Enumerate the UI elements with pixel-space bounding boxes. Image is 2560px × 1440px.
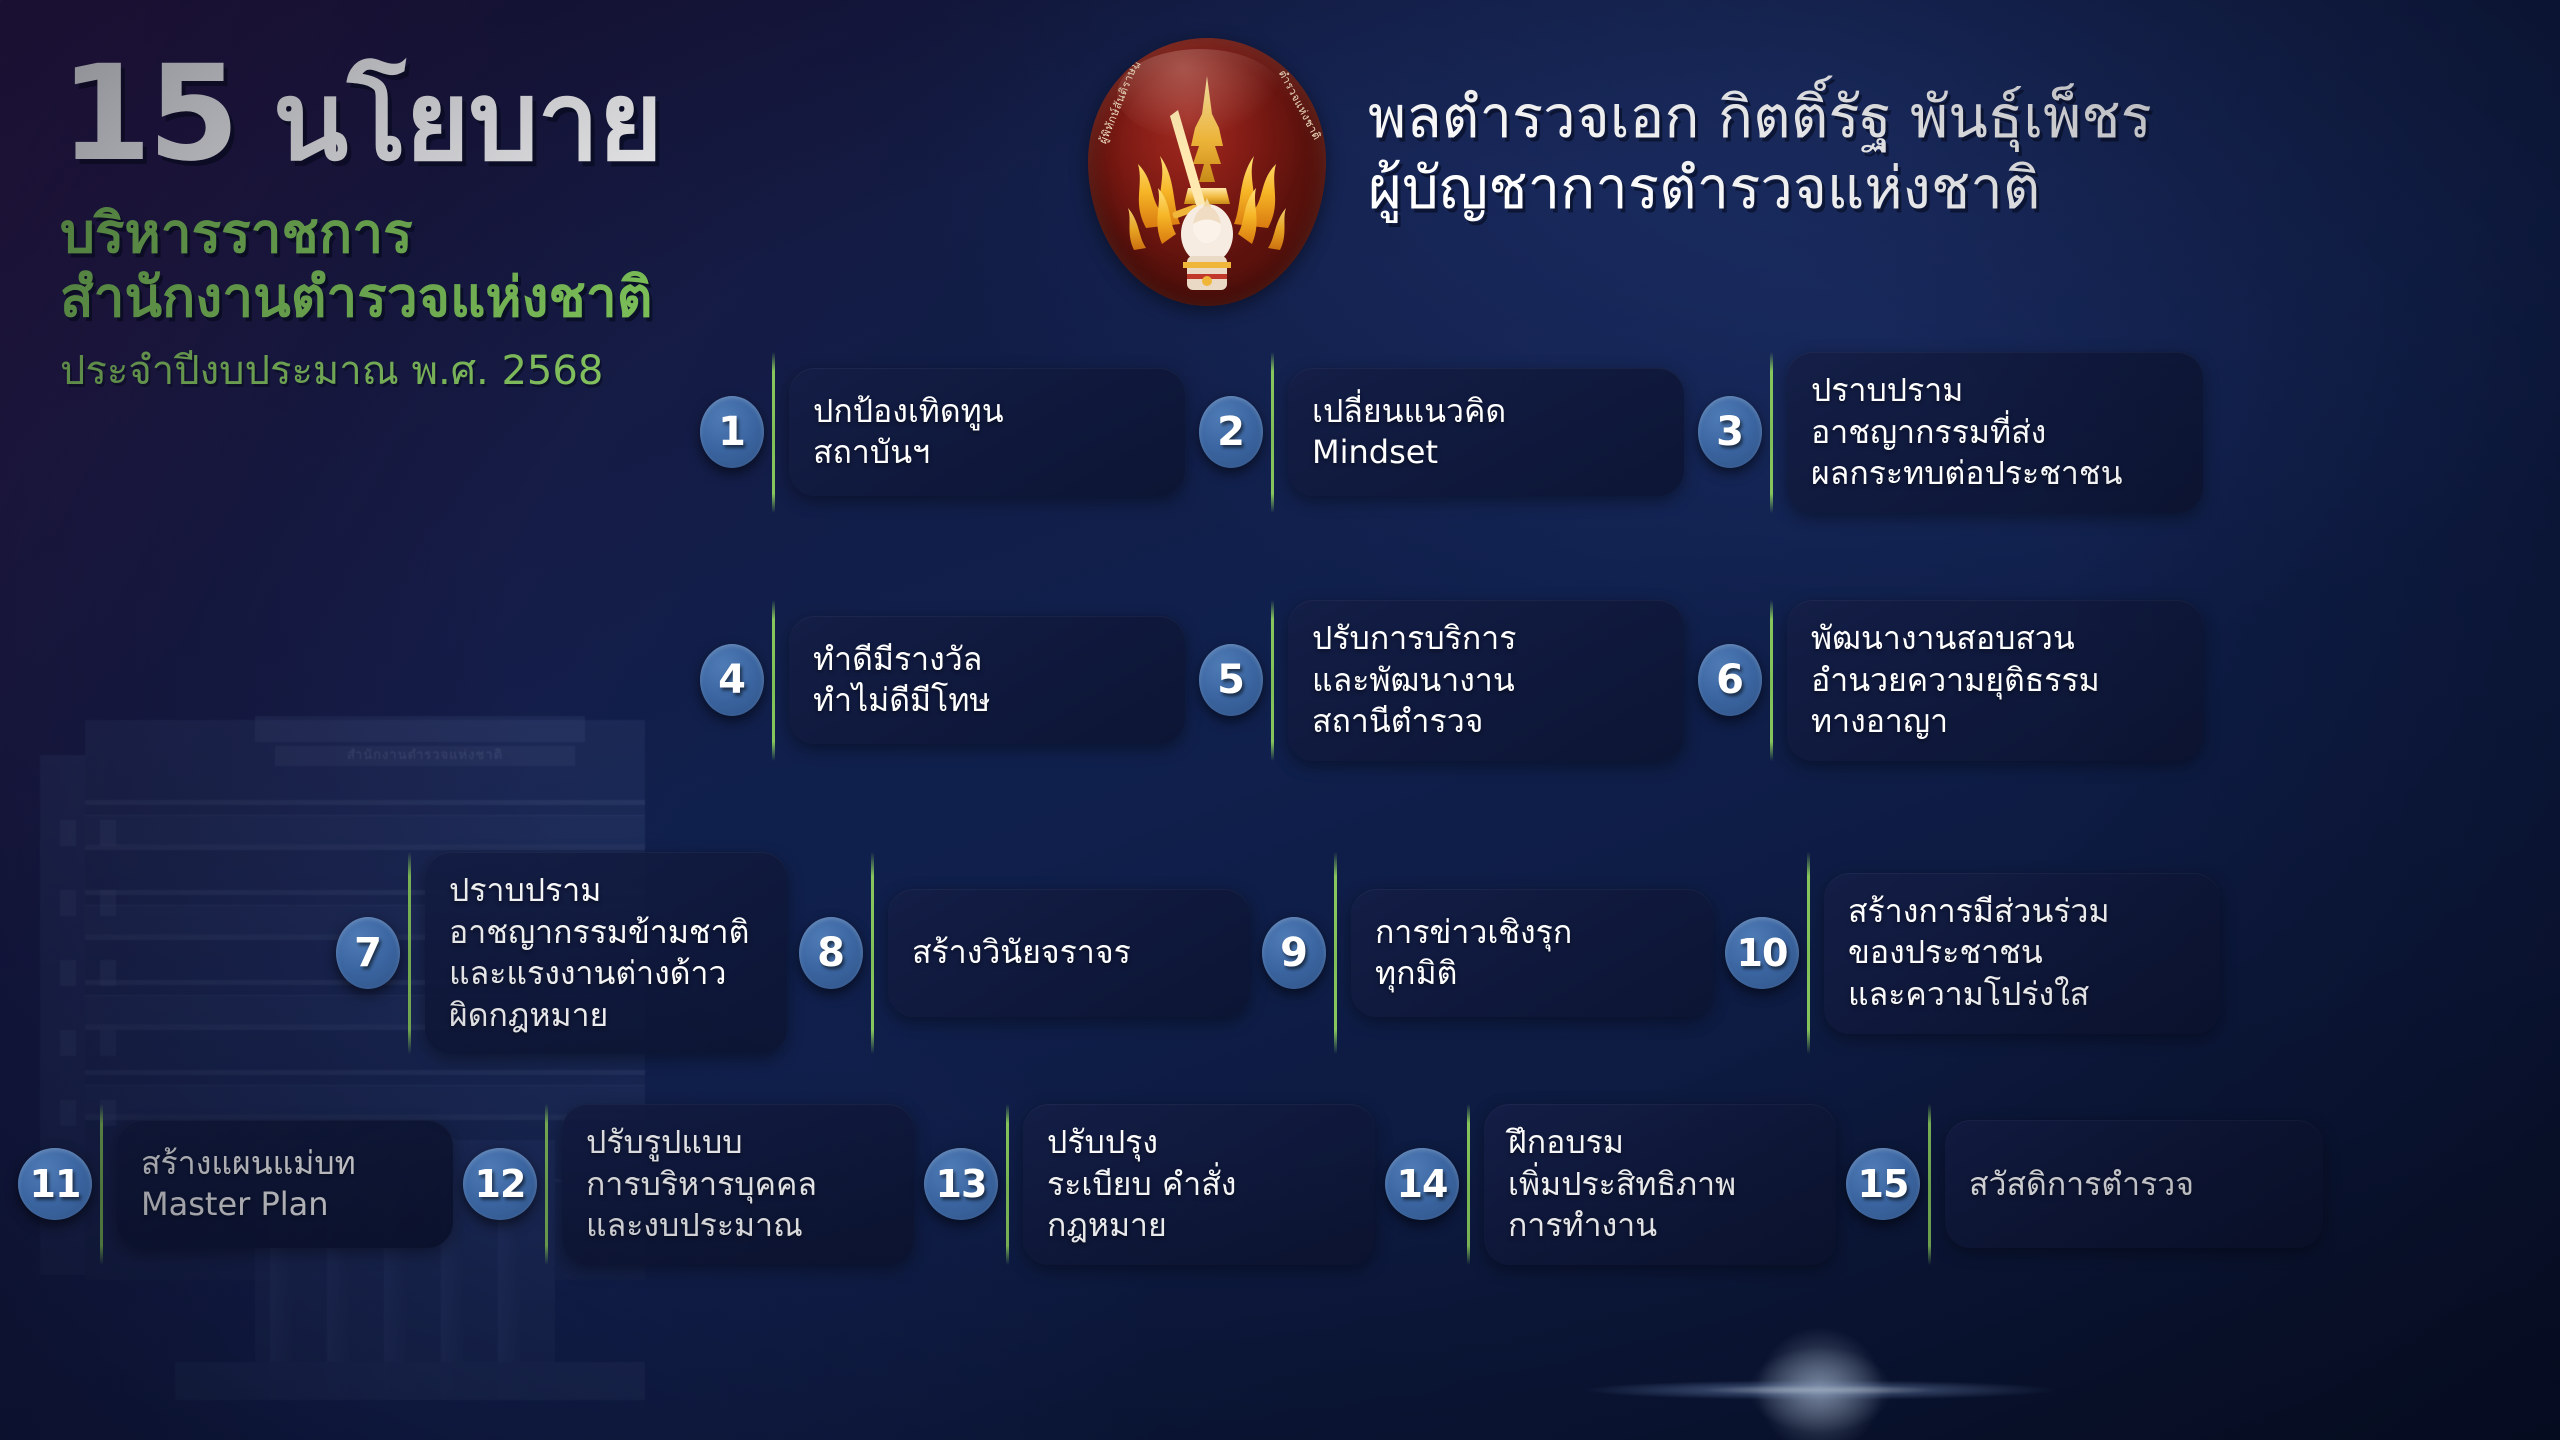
policy-number-badge: 2 [1199,396,1263,468]
policy-card[interactable]: สร้างวินัยจราจร [888,889,1250,1017]
policy-card[interactable]: ปรับรูปแบบ การบริหารบุคคล และงบประมาณ [562,1104,914,1265]
policy-text: ปรับการบริการ และพัฒนางาน สถานีตำรวจ [1312,618,1516,743]
infographic-canvas: 15 นโยบาย บริหารราชการ สำนักงานตำรวจแห่ง… [0,0,2560,1440]
policy-item-13[interactable]: 13 ปรับปรุง ระเบียบ คำสั่ง กฎหมาย [924,1104,1375,1265]
commissioner-name: พลตำรวจเอก กิตติ์รัฐ พันธุ์เพ็ชร [1368,82,2152,153]
policy-number-badge: 14 [1385,1148,1459,1220]
policy-row-1: 1 ปกป้องเทิดทูน สถาบันฯ 2 เปลี่ยนแนวคิด … [700,352,2217,513]
policy-number-badge: 10 [1725,917,1799,989]
policy-divider [772,600,775,761]
policy-divider [545,1104,548,1265]
policy-number-badge: 3 [1698,396,1762,468]
policy-number-badge: 6 [1698,644,1762,716]
policy-row-3: 7 ปราบปราม อาชญากรรมข้ามชาติ และแรงงานต่… [336,852,2232,1054]
policy-text: ปกป้องเทิดทูน สถาบันฯ [813,391,1004,474]
policy-item-10[interactable]: 10 สร้างการมีส่วนร่วม ของประชาชน และความ… [1725,852,2220,1054]
policy-item-14[interactable]: 14 ฝึกอบรม เพิ่มประสิทธิภาพ การทำงาน [1385,1104,1836,1265]
policy-text: การข่าวเชิงรุก ทุกมิติ [1375,912,1572,995]
policy-number-badge: 9 [1262,917,1326,989]
policy-item-3[interactable]: 3 ปราบปราม อาชญากรรมที่ส่ง ผลกระทบต่อประ… [1698,352,2203,513]
policy-divider [871,852,874,1054]
policy-number-badge: 11 [18,1148,92,1220]
policy-item-12[interactable]: 12 ปรับรูปแบบ การบริหารบุคคล และงบประมาณ [463,1104,914,1265]
policy-number-badge: 4 [700,644,764,716]
policy-divider [1807,852,1810,1054]
policy-card[interactable]: สร้างแผนแม่บท Master Plan [117,1120,453,1248]
policy-text: ฝึกอบรม เพิ่มประสิทธิภาพ การทำงาน [1508,1122,1736,1247]
royal-thai-police-emblem: ผู้พิทักษ์สันติราษฎร์ ตำรวจแห่งชาติ [1088,38,1326,306]
policy-card[interactable]: ทำดีมีรางวัล ทำไม่ดีมีโทษ [789,616,1185,744]
policy-item-15[interactable]: 15 สวัสดิการตำรวจ [1846,1104,2323,1265]
policy-card[interactable]: ปราบปราม อาชญากรรมที่ส่ง ผลกระทบต่อประชา… [1787,352,2203,513]
headline-block: 15 นโยบาย บริหารราชการ สำนักงานตำรวจแห่ง… [60,48,700,396]
policy-item-5[interactable]: 5 ปรับการบริการ และพัฒนางาน สถานีตำรวจ [1199,600,1684,761]
policy-divider [1006,1104,1009,1265]
policy-text: สร้างวินัยจราจร [912,932,1131,974]
policy-word: นโยบาย [273,57,662,185]
building-sign [275,746,575,766]
subtitle-line-1: บริหารราชการ [60,202,700,266]
policy-card[interactable]: ฝึกอบรม เพิ่มประสิทธิภาพ การทำงาน [1484,1104,1836,1265]
policy-text: ทำดีมีรางวัล ทำไม่ดีมีโทษ [813,639,991,722]
policy-item-4[interactable]: 4 ทำดีมีรางวัล ทำไม่ดีมีโทษ [700,600,1185,761]
policy-item-11[interactable]: 11 สร้างแผนแม่บท Master Plan [18,1104,453,1265]
policy-divider [1271,352,1274,513]
policy-card[interactable]: สร้างการมีส่วนร่วม ของประชาชน และความโปร… [1824,873,2220,1034]
policy-text: เปลี่ยนแนวคิด Mindset [1312,391,1506,474]
policy-number-badge: 13 [924,1148,998,1220]
policy-divider [1928,1104,1931,1265]
commissioner-name-block: พลตำรวจเอก กิตติ์รัฐ พันธุ์เพ็ชร ผู้บัญช… [1368,82,2152,225]
policy-card[interactable]: เปลี่ยนแนวคิด Mindset [1288,368,1684,496]
policy-text: ปรับปรุง ระเบียบ คำสั่ง กฎหมาย [1047,1122,1236,1247]
policy-divider [408,852,411,1054]
policy-divider [100,1104,103,1265]
policy-item-7[interactable]: 7 ปราบปราม อาชญากรรมข้ามชาติ และแรงงานต่… [336,852,787,1054]
policy-item-9[interactable]: 9 การข่าวเชิงรุก ทุกมิติ [1262,852,1713,1054]
policy-number-badge: 7 [336,917,400,989]
policy-text: สร้างแผนแม่บท Master Plan [141,1143,356,1226]
policy-card[interactable]: การข่าวเชิงรุก ทุกมิติ [1351,889,1713,1017]
light-flare-decoration [1480,1275,2160,1440]
policy-row-4: 11 สร้างแผนแม่บท Master Plan 12 ปรับรูปแ… [18,1104,2333,1265]
policy-divider [1271,600,1274,761]
policy-item-8[interactable]: 8 สร้างวินัยจราจร [799,852,1250,1054]
policy-divider [772,352,775,513]
policy-divider [1770,352,1773,513]
policy-text: สร้างการมีส่วนร่วม ของประชาชน และความโปร… [1848,891,2110,1016]
policy-count: 15 [60,37,236,191]
policy-card[interactable]: ปราบปราม อาชญากรรมข้ามชาติ และแรงงานต่าง… [425,852,787,1054]
policy-number-badge: 1 [700,396,764,468]
policy-divider [1334,852,1337,1054]
policy-text: ปราบปราม อาชญากรรมที่ส่ง ผลกระทบต่อประชา… [1811,370,2122,495]
policy-number-badge: 8 [799,917,863,989]
policy-item-1[interactable]: 1 ปกป้องเทิดทูน สถาบันฯ [700,352,1185,513]
fiscal-year-label: ประจำปีงบประมาณ พ.ศ. 2568 [60,346,700,396]
policy-card[interactable]: สวัสดิการตำรวจ [1945,1120,2323,1248]
building-base [175,1362,645,1400]
commissioner-title: ผู้บัญชาการตำรวจแห่งชาติ [1368,153,2152,224]
policy-card[interactable]: พัฒนางานสอบสวน อำนวยความยุติธรรม ทางอาญา [1787,600,2203,761]
subtitle-block: บริหารราชการ สำนักงานตำรวจแห่งชาติ [60,202,700,330]
policy-row-2: 4 ทำดีมีรางวัล ทำไม่ดีมีโทษ 5 ปรับการบริ… [700,600,2217,761]
policy-divider [1467,1104,1470,1265]
policy-card[interactable]: ปรับการบริการ และพัฒนางาน สถานีตำรวจ [1288,600,1684,761]
policy-text: ปราบปราม อาชญากรรมข้ามชาติ และแรงงานต่าง… [449,870,749,1036]
policy-text: สวัสดิการตำรวจ [1969,1164,2194,1206]
policy-number-badge: 15 [1846,1148,1920,1220]
page-title: 15 นโยบาย [60,48,700,180]
building-roof [255,716,585,742]
policy-number-badge: 5 [1199,644,1263,716]
policy-card[interactable]: ปกป้องเทิดทูน สถาบันฯ [789,368,1185,496]
policy-item-2[interactable]: 2 เปลี่ยนแนวคิด Mindset [1199,352,1684,513]
light-flare-secondary [1720,1330,1920,1440]
policy-number-badge: 12 [463,1148,537,1220]
policy-text: ปรับรูปแบบ การบริหารบุคคล และงบประมาณ [586,1122,817,1247]
subtitle-line-2: สำนักงานตำรวจแห่งชาติ [60,266,700,330]
policy-item-6[interactable]: 6 พัฒนางานสอบสวน อำนวยความยุติธรรม ทางอา… [1698,600,2203,761]
policy-divider [1770,600,1773,761]
policy-text: พัฒนางานสอบสวน อำนวยความยุติธรรม ทางอาญา [1811,618,2100,743]
policy-card[interactable]: ปรับปรุง ระเบียบ คำสั่ง กฎหมาย [1023,1104,1375,1265]
